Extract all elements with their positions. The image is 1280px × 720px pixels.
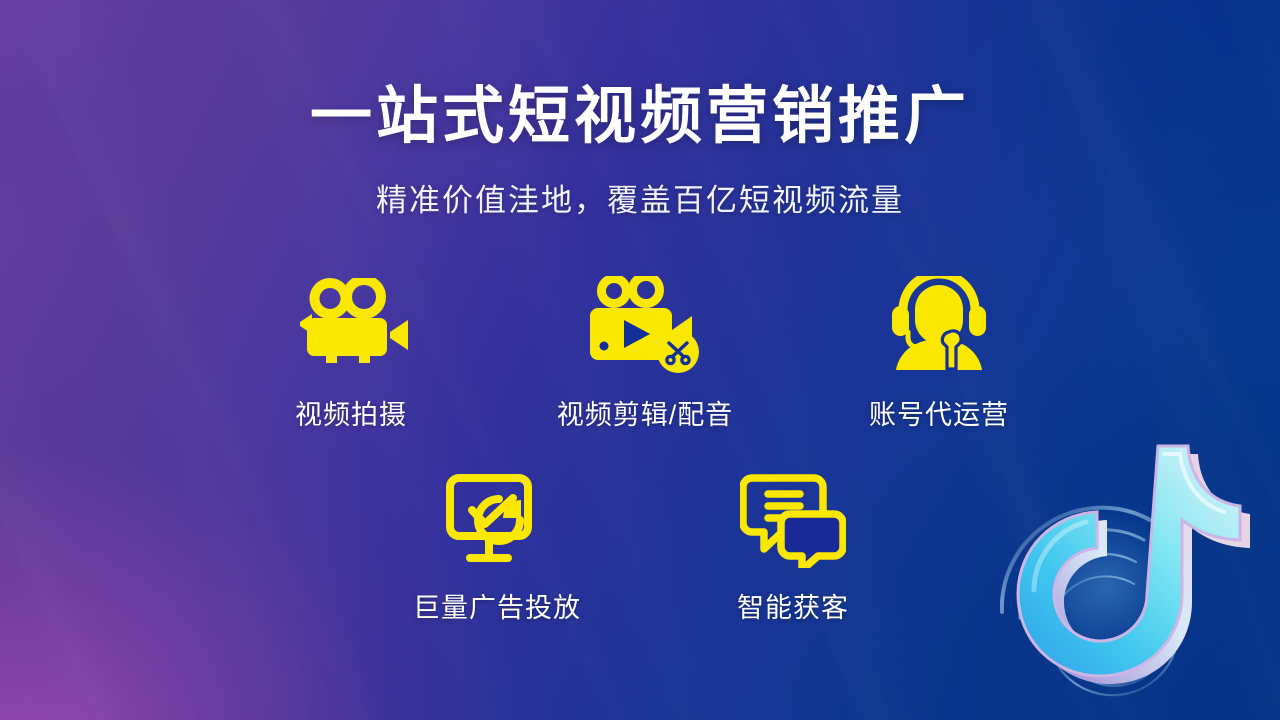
video-edit-scissors-icon: [584, 275, 706, 377]
douyin-logo: [962, 430, 1262, 710]
chat-bubbles-icon: [740, 468, 846, 570]
feature-row-bottom: 巨量广告投放 智能获客: [380, 468, 910, 625]
feature-ad-placement[interactable]: 巨量广告投放: [408, 468, 586, 625]
page-title: 一站式短视频营销推广: [0, 82, 1280, 151]
feature-label: 智能获客: [737, 586, 849, 625]
feature-label: 巨量广告投放: [413, 586, 581, 625]
feature-account-operation[interactable]: 账号代运营: [850, 275, 1028, 432]
feature-label: 视频剪辑/配音: [557, 393, 734, 432]
feature-label: 账号代运营: [869, 393, 1009, 432]
slide-header: 一站式短视频营销推广 精准价值洼地，覆盖百亿短视频流量: [0, 82, 1280, 220]
feature-label: 视频拍摄: [295, 393, 407, 432]
feature-smart-acquisition[interactable]: 智能获客: [704, 468, 882, 625]
feature-video-editing[interactable]: 视频剪辑/配音: [556, 275, 734, 432]
monitor-check-chart-icon: [442, 468, 552, 570]
feature-row-top: 视频拍摄: [200, 275, 1090, 432]
movie-camera-icon: [292, 275, 410, 377]
headset-operator-wrench-icon: [886, 275, 992, 377]
feature-video-shooting[interactable]: 视频拍摄: [262, 275, 440, 432]
page-subtitle: 精准价值洼地，覆盖百亿短视频流量: [0, 175, 1280, 220]
promo-slide: 一站式短视频营销推广 精准价值洼地，覆盖百亿短视频流量 视频拍摄: [0, 0, 1280, 720]
